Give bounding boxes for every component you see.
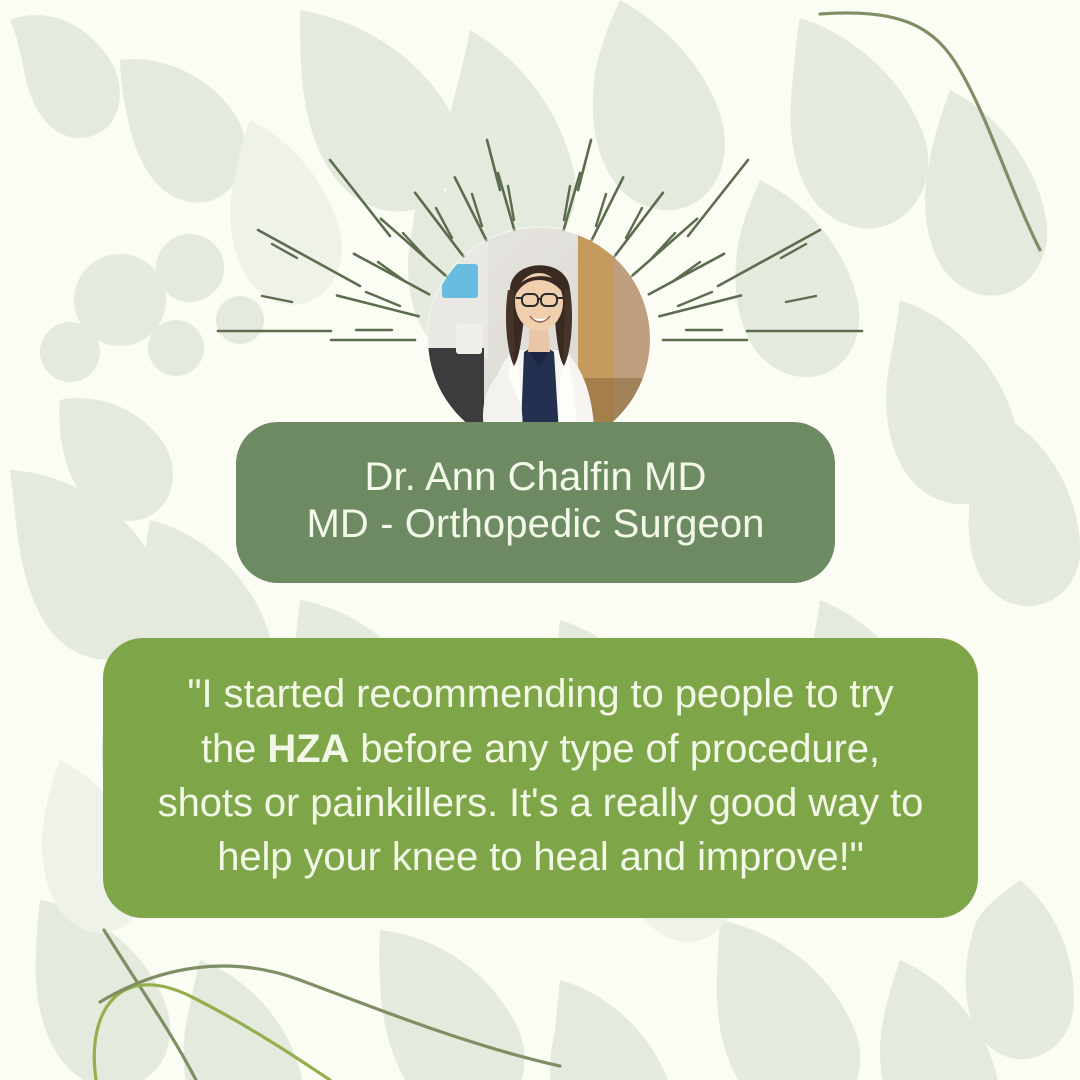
quote-card: "I started recommending to people to try… [103,638,978,918]
doctor-name: Dr. Ann Chalfin MD [365,454,707,500]
name-card: Dr. Ann Chalfin MD MD - Orthopedic Surge… [236,422,835,583]
doctor-portrait-avatar [428,228,650,450]
doctor-title: MD - Orthopedic Surgeon [306,501,764,547]
testimonial-card: Dr. Ann Chalfin MD MD - Orthopedic Surge… [0,0,1080,1080]
testimonial-quote: "I started recommending to people to try… [158,667,924,885]
